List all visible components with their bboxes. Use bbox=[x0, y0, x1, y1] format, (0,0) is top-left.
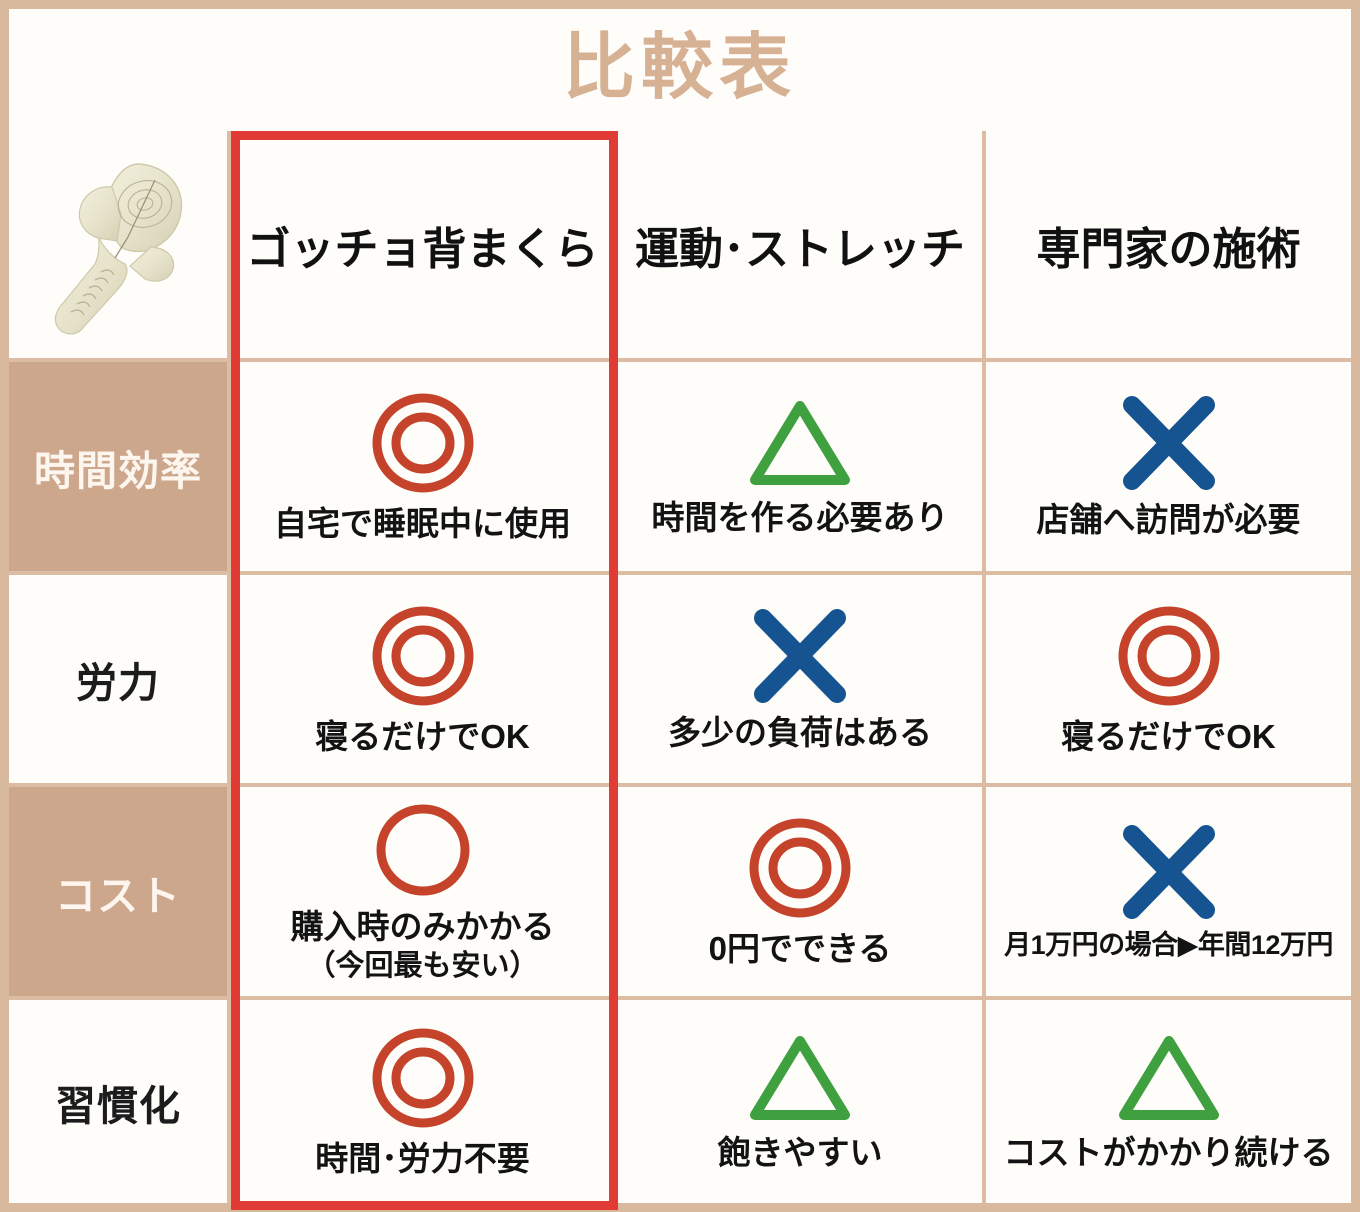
cell-caption: 多少の負荷はある bbox=[668, 714, 932, 753]
row-label-text: 労力 bbox=[76, 649, 160, 709]
cell-caption: 時間･労力不要 bbox=[315, 1140, 530, 1179]
cell-caption: コストがかかり続ける bbox=[1004, 1134, 1334, 1173]
row-label-cost: コスト bbox=[9, 787, 231, 1000]
cell-caption: 寝るだけでOK bbox=[1061, 718, 1276, 757]
cell-caption: 飽きやすい bbox=[718, 1134, 883, 1173]
cell-habit-specialist: コストがかかり続ける bbox=[986, 1000, 1351, 1203]
page-title-band: 比較表 bbox=[0, 0, 1360, 131]
cell-cost-gotcho: 購入時のみかかる （今回最も安い） bbox=[231, 787, 618, 1000]
row-label-time-efficiency: 時間効率 bbox=[9, 362, 231, 575]
cell-time-efficiency-specialist: 店舗へ訪問が必要 bbox=[986, 362, 1351, 575]
cross-icon bbox=[1116, 822, 1222, 922]
cell-caption: 購入時のみかかる bbox=[291, 908, 555, 947]
double-circle-icon bbox=[745, 814, 855, 922]
cell-caption: 自宅で睡眠中に使用 bbox=[274, 505, 571, 544]
cell-habit-exercise: 飽きやすい bbox=[618, 1000, 986, 1203]
row-label-habit-forming: 習慣化 bbox=[9, 1000, 231, 1203]
cell-caption: 寝るだけでOK bbox=[315, 718, 530, 757]
cell-effort-exercise: 多少の負荷はある bbox=[618, 575, 986, 787]
double-circle-icon bbox=[1114, 602, 1224, 710]
cell-caption: 月1万円の場合▶年間12万円 bbox=[1004, 930, 1333, 962]
row-label-text: 時間効率 bbox=[34, 437, 202, 497]
cell-time-efficiency-gotcho: 自宅で睡眠中に使用 bbox=[231, 362, 618, 575]
triangle-icon bbox=[745, 1031, 855, 1126]
cell-effort-specialist: 寝るだけでOK bbox=[986, 575, 1351, 787]
comparison-table: ゴッチョ背まくら 運動･ストレッチ 専門家の施術 時間効率 自宅で睡眠中に使用 bbox=[0, 131, 1360, 1212]
double-circle-icon bbox=[368, 389, 478, 497]
cell-subcaption: （今回最も安い） bbox=[306, 949, 538, 983]
double-circle-icon bbox=[368, 602, 478, 710]
row-label-effort: 労力 bbox=[9, 575, 231, 787]
product-photo-cell bbox=[9, 131, 231, 362]
cell-habit-gotcho: 時間･労力不要 bbox=[231, 1000, 618, 1203]
single-circle-icon bbox=[372, 800, 474, 900]
cell-caption: 時間を作る必要あり bbox=[652, 499, 949, 538]
cell-caption: 店舗へ訪問が必要 bbox=[1037, 501, 1301, 540]
triangle-icon bbox=[745, 396, 855, 491]
column-header-specialist-treatment: 専門家の施術 bbox=[986, 131, 1351, 362]
row-label-text: 習慣化 bbox=[55, 1072, 181, 1132]
double-circle-icon bbox=[368, 1024, 478, 1132]
triangle-icon bbox=[1114, 1031, 1224, 1126]
column-header-label: 専門家の施術 bbox=[1037, 213, 1301, 277]
row-label-text: コスト bbox=[55, 862, 181, 922]
cell-effort-gotcho: 寝るだけでOK bbox=[231, 575, 618, 787]
column-header-label: ゴッチョ背まくら bbox=[247, 213, 599, 277]
page-title: 比較表 bbox=[563, 32, 797, 104]
cross-icon bbox=[1116, 393, 1222, 493]
cell-time-efficiency-exercise: 時間を作る必要あり bbox=[618, 362, 986, 575]
column-header-gotcho-pillow: ゴッチョ背まくら bbox=[231, 131, 618, 362]
column-header-exercise-stretch: 運動･ストレッチ bbox=[618, 131, 986, 362]
column-header-label: 運動･ストレッチ bbox=[635, 213, 965, 277]
cross-icon bbox=[747, 606, 853, 706]
cell-cost-specialist: 月1万円の場合▶年間12万円 bbox=[986, 787, 1351, 1000]
cell-caption: 0円でできる bbox=[709, 930, 892, 969]
cell-cost-exercise: 0円でできる bbox=[618, 787, 986, 1000]
back-pillow-product-photo bbox=[33, 152, 203, 337]
comparison-table-page: 比較表 bbox=[0, 0, 1360, 1212]
